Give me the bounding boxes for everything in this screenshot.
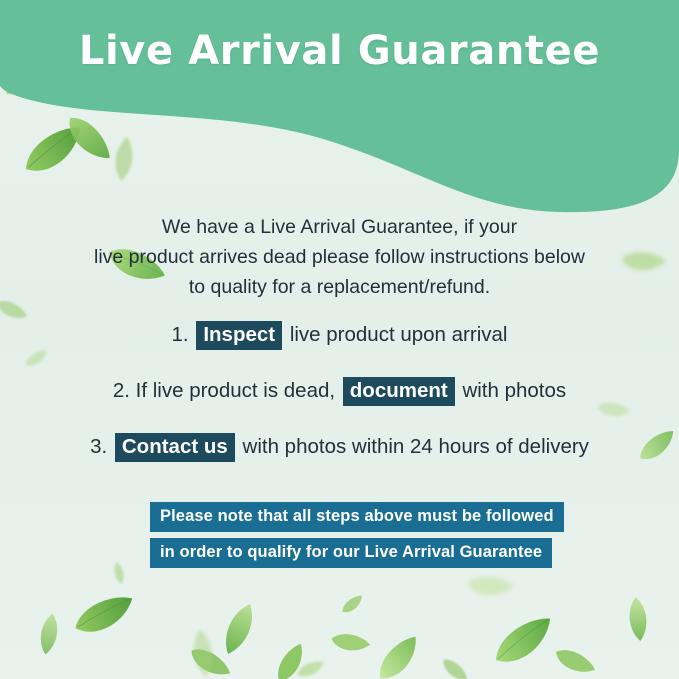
- leaf-icon: [327, 625, 374, 664]
- step-item-2: 2. If live product is dead, document wit…: [40, 376, 639, 406]
- leaf-icon: [622, 595, 655, 644]
- leaf-icon: [107, 134, 141, 183]
- leaf-icon: [13, 114, 97, 189]
- step-highlight-document: document: [343, 377, 455, 406]
- step-number: 3.: [90, 435, 107, 458]
- intro-paragraph: We have a Live Arrival Guarantee, if you…: [60, 212, 619, 302]
- leaf-icon: [617, 244, 668, 283]
- intro-line-2: live product arrives dead please follow …: [60, 242, 619, 272]
- leaf-icon: [435, 652, 472, 679]
- step-text-after: live product upon arrival: [290, 323, 508, 346]
- leaf-icon: [0, 292, 31, 330]
- leaf-icon: [328, 107, 355, 128]
- leaf-icon: [67, 586, 143, 648]
- steps-list: 1. Inspect live product upon arrival 2. …: [40, 320, 639, 488]
- intro-line-3: to quality for a replacement/refund.: [60, 272, 619, 302]
- leaf-icon: [366, 627, 435, 679]
- leaf-icon: [390, 121, 431, 182]
- leaf-icon: [183, 626, 224, 679]
- intro-line-1: We have a Live Arrival Guarantee, if you…: [60, 212, 619, 242]
- leaf-icon: [547, 638, 600, 679]
- leaf-icon: [450, 138, 507, 189]
- step-number: 1.: [172, 323, 189, 346]
- leaf-icon: [483, 606, 566, 679]
- step-text-after: with photos: [462, 379, 566, 402]
- leaf-icon: [294, 656, 328, 679]
- page-title: Live Arrival Guarantee: [0, 28, 679, 74]
- live-arrival-guarantee-poster: Live Arrival Guarantee We have a Live Ar…: [0, 0, 679, 679]
- step-text-before: If live product is dead,: [136, 379, 335, 402]
- leaf-icon: [181, 637, 237, 679]
- note-bar-line-2: in order to qualify for our Live Arrival…: [150, 538, 552, 568]
- step-item-3: 3. Contact us with photos within 24 hour…: [40, 432, 639, 462]
- step-highlight-inspect: Inspect: [196, 321, 282, 350]
- leaf-icon: [54, 105, 120, 175]
- leaf-icon: [337, 591, 369, 620]
- leaf-icon: [449, 106, 495, 144]
- leaf-icon: [109, 559, 128, 587]
- step-item-1: 1. Inspect live product upon arrival: [40, 320, 639, 350]
- note-bar-line-1: Please note that all steps above must be…: [150, 502, 564, 532]
- step-highlight-contact-us[interactable]: Contact us: [115, 433, 235, 462]
- leaf-icon: [600, 134, 646, 177]
- note-banner: Please note that all steps above must be…: [150, 502, 550, 574]
- leaf-icon: [567, 180, 602, 209]
- step-number: 2.: [113, 379, 130, 402]
- step-text-after: with photos within 24 hours of delivery: [243, 435, 589, 458]
- leaf-icon: [266, 637, 319, 679]
- leaf-icon: [32, 610, 65, 658]
- leaf-icon: [212, 596, 267, 663]
